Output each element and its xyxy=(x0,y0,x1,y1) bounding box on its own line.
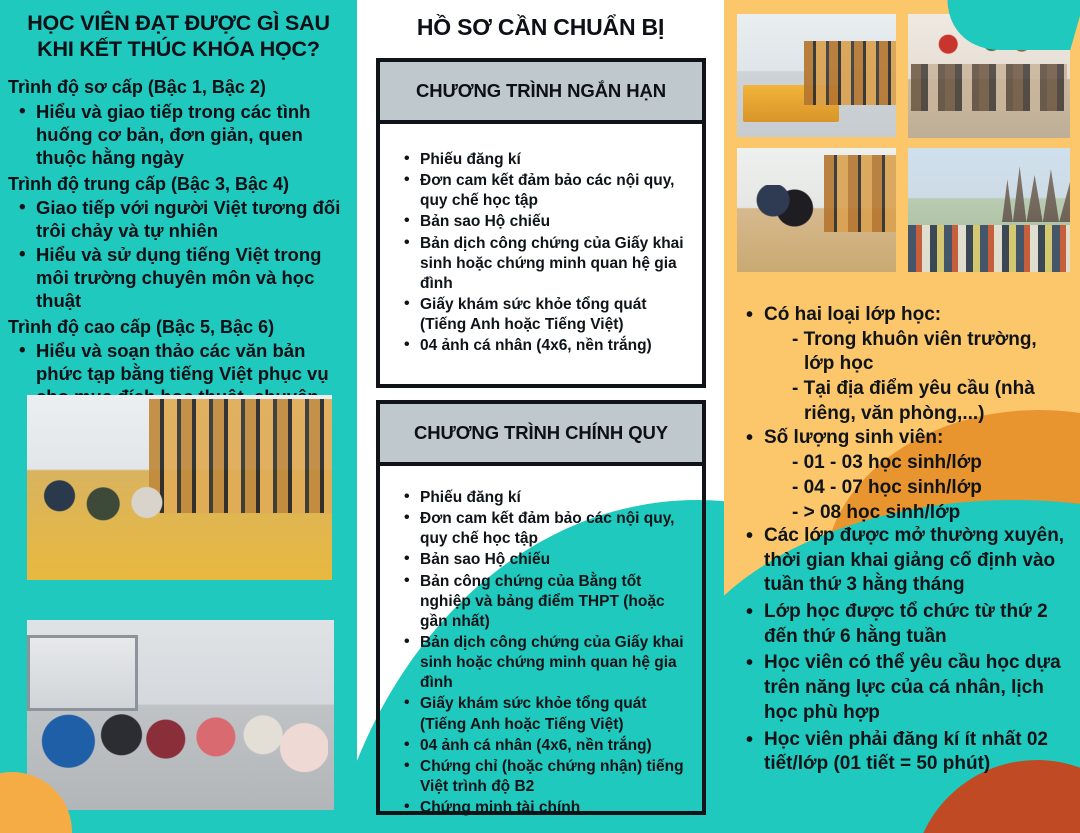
document-box-formal-program: CHƯƠNG TRÌNH CHÍNH QUY Phiếu đăng kí Đơn… xyxy=(376,400,706,815)
level-heading: Trình độ cao cấp (Bậc 5, Bậc 6) xyxy=(8,316,351,339)
document-box-short-program: CHƯƠNG TRÌNH NGẮN HẠN Phiếu đăng kí Đơn … xyxy=(376,58,706,388)
sub-line: - > 08 học sinh/lớp xyxy=(764,501,1070,526)
left-levels-container: Trình độ sơ cấp (Bậc 1, Bậc 2) Hiểu và g… xyxy=(6,76,351,431)
list-item: Đơn cam kết đảm bảo các nội quy, quy chế… xyxy=(398,509,690,549)
right-column: Có hai loại lớp học: - Trong khuôn viên … xyxy=(724,0,1080,833)
photo-classroom-students-yellow-tables xyxy=(27,395,332,580)
document-list: Phiếu đăng kí Đơn cam kết đảm bảo các nộ… xyxy=(398,488,690,818)
document-list: Phiếu đăng kí Đơn cam kết đảm bảo các nộ… xyxy=(398,150,690,356)
photo-classroom-overview xyxy=(737,14,896,137)
photo-classroom-international-students xyxy=(27,620,334,810)
list-item: Hiểu và sử dụng tiếng Việt trong môi trư… xyxy=(6,244,351,313)
list-item: Bản sao Hộ chiếu xyxy=(398,212,690,232)
list-item: 04 ảnh cá nhân (4x6, nền trắng) xyxy=(398,336,690,356)
list-item: Các lớp được mở thường xuyên, thời gian … xyxy=(736,524,1072,598)
list-item: Học viên phải đăng kí ít nhất 02 tiết/lớ… xyxy=(736,728,1072,777)
list-item: Có hai loại lớp học: - Trong khuôn viên … xyxy=(736,303,1070,426)
level-group-trung-cap: Trình độ trung cấp (Bậc 3, Bậc 4) Giao t… xyxy=(6,173,351,313)
list-item: Phiếu đăng kí xyxy=(398,488,690,508)
level-group-so-cap: Trình độ sơ cấp (Bậc 1, Bậc 2) Hiểu và g… xyxy=(6,76,351,169)
list-item-label: Có hai loại lớp học: xyxy=(764,304,941,325)
sub-line: - Tại địa điểm yêu cầu (nhà riêng, văn p… xyxy=(764,377,1070,426)
box-body: Phiếu đăng kí Đơn cam kết đảm bảo các nộ… xyxy=(380,466,702,829)
brochure-page: HỌC VIÊN ĐẠT ĐƯỢC GÌ SAU KHI KẾT THÚC KH… xyxy=(0,0,1080,833)
box-heading: CHƯƠNG TRÌNH CHÍNH QUY xyxy=(380,404,702,466)
level-item-list: Giao tiếp với người Việt tương đối trôi … xyxy=(6,197,351,313)
list-item: Phiếu đăng kí xyxy=(398,150,690,170)
level-heading: Trình độ trung cấp (Bậc 3, Bậc 4) xyxy=(8,173,351,196)
list-item: Bản sao Hộ chiếu xyxy=(398,550,690,570)
list-item: Học viên có thể yêu cầu học dựa trên năn… xyxy=(736,651,1072,725)
list-item-label: Số lượng sinh viên: xyxy=(764,427,943,448)
list-item: Đơn cam kết đảm bảo các nội quy, quy chế… xyxy=(398,171,690,211)
level-heading: Trình độ sơ cấp (Bậc 1, Bậc 2) xyxy=(8,76,351,99)
photo-one-on-one-tutoring xyxy=(737,148,896,272)
level-item-list: Hiểu và giao tiếp trong các tình huống c… xyxy=(6,101,351,170)
list-item: Hiểu và giao tiếp trong các tình huống c… xyxy=(6,101,351,170)
left-column: HỌC VIÊN ĐẠT ĐƯỢC GÌ SAU KHI KẾT THÚC KH… xyxy=(0,0,357,833)
list-item: Chứng minh tài chính xyxy=(398,798,690,818)
list-item: Giấy khám sức khỏe tổng quát (Tiếng Anh … xyxy=(398,694,690,734)
list-item: Số lượng sinh viên: - 01 - 03 học sinh/l… xyxy=(736,426,1070,525)
list-item: Bản công chứng của Bằng tốt nghiệp và bả… xyxy=(398,572,690,632)
box-body: Phiếu đăng kí Đơn cam kết đảm bảo các nộ… xyxy=(380,124,702,367)
list-item: Giao tiếp với người Việt tương đối trôi … xyxy=(6,197,351,243)
schedule-info-list: Các lớp được mở thường xuyên, thời gian … xyxy=(736,524,1072,777)
class-info-block: Có hai loại lớp học: - Trong khuôn viên … xyxy=(724,303,1080,525)
left-column-title: HỌC VIÊN ĐẠT ĐƯỢC GÌ SAU KHI KẾT THÚC KH… xyxy=(12,10,345,62)
list-item: 04 ảnh cá nhân (4x6, nền trắng) xyxy=(398,736,690,756)
middle-column: HỒ SƠ CẦN CHUẨN BỊ CHƯƠNG TRÌNH NGẮN HẠN… xyxy=(357,0,724,833)
middle-column-title: HỒ SƠ CẦN CHUẨN BỊ xyxy=(357,14,724,41)
box-heading: CHƯƠNG TRÌNH NGẮN HẠN xyxy=(380,62,702,124)
list-item: Bản dịch công chứng của Giấy khai sinh h… xyxy=(398,633,690,693)
sub-line: - Trong khuôn viên trường, lớp học xyxy=(764,328,1070,377)
list-item: Bản dịch công chứng của Giấy khai sinh h… xyxy=(398,234,690,294)
sub-line: - 01 - 03 học sinh/lớp xyxy=(764,451,1070,476)
class-info-list: Có hai loại lớp học: - Trong khuôn viên … xyxy=(736,303,1070,525)
list-item: Lớp học được tổ chức từ thứ 2 đến thứ 6 … xyxy=(736,600,1072,649)
list-item: Giấy khám sức khỏe tổng quát (Tiếng Anh … xyxy=(398,295,690,335)
photo-field-trip xyxy=(908,148,1070,272)
sub-line: - 04 - 07 học sinh/lớp xyxy=(764,476,1070,501)
list-item: Chứng chỉ (hoặc chứng nhận) tiếng Việt t… xyxy=(398,757,690,797)
schedule-info-block: Các lớp được mở thường xuyên, thời gian … xyxy=(724,524,1080,779)
